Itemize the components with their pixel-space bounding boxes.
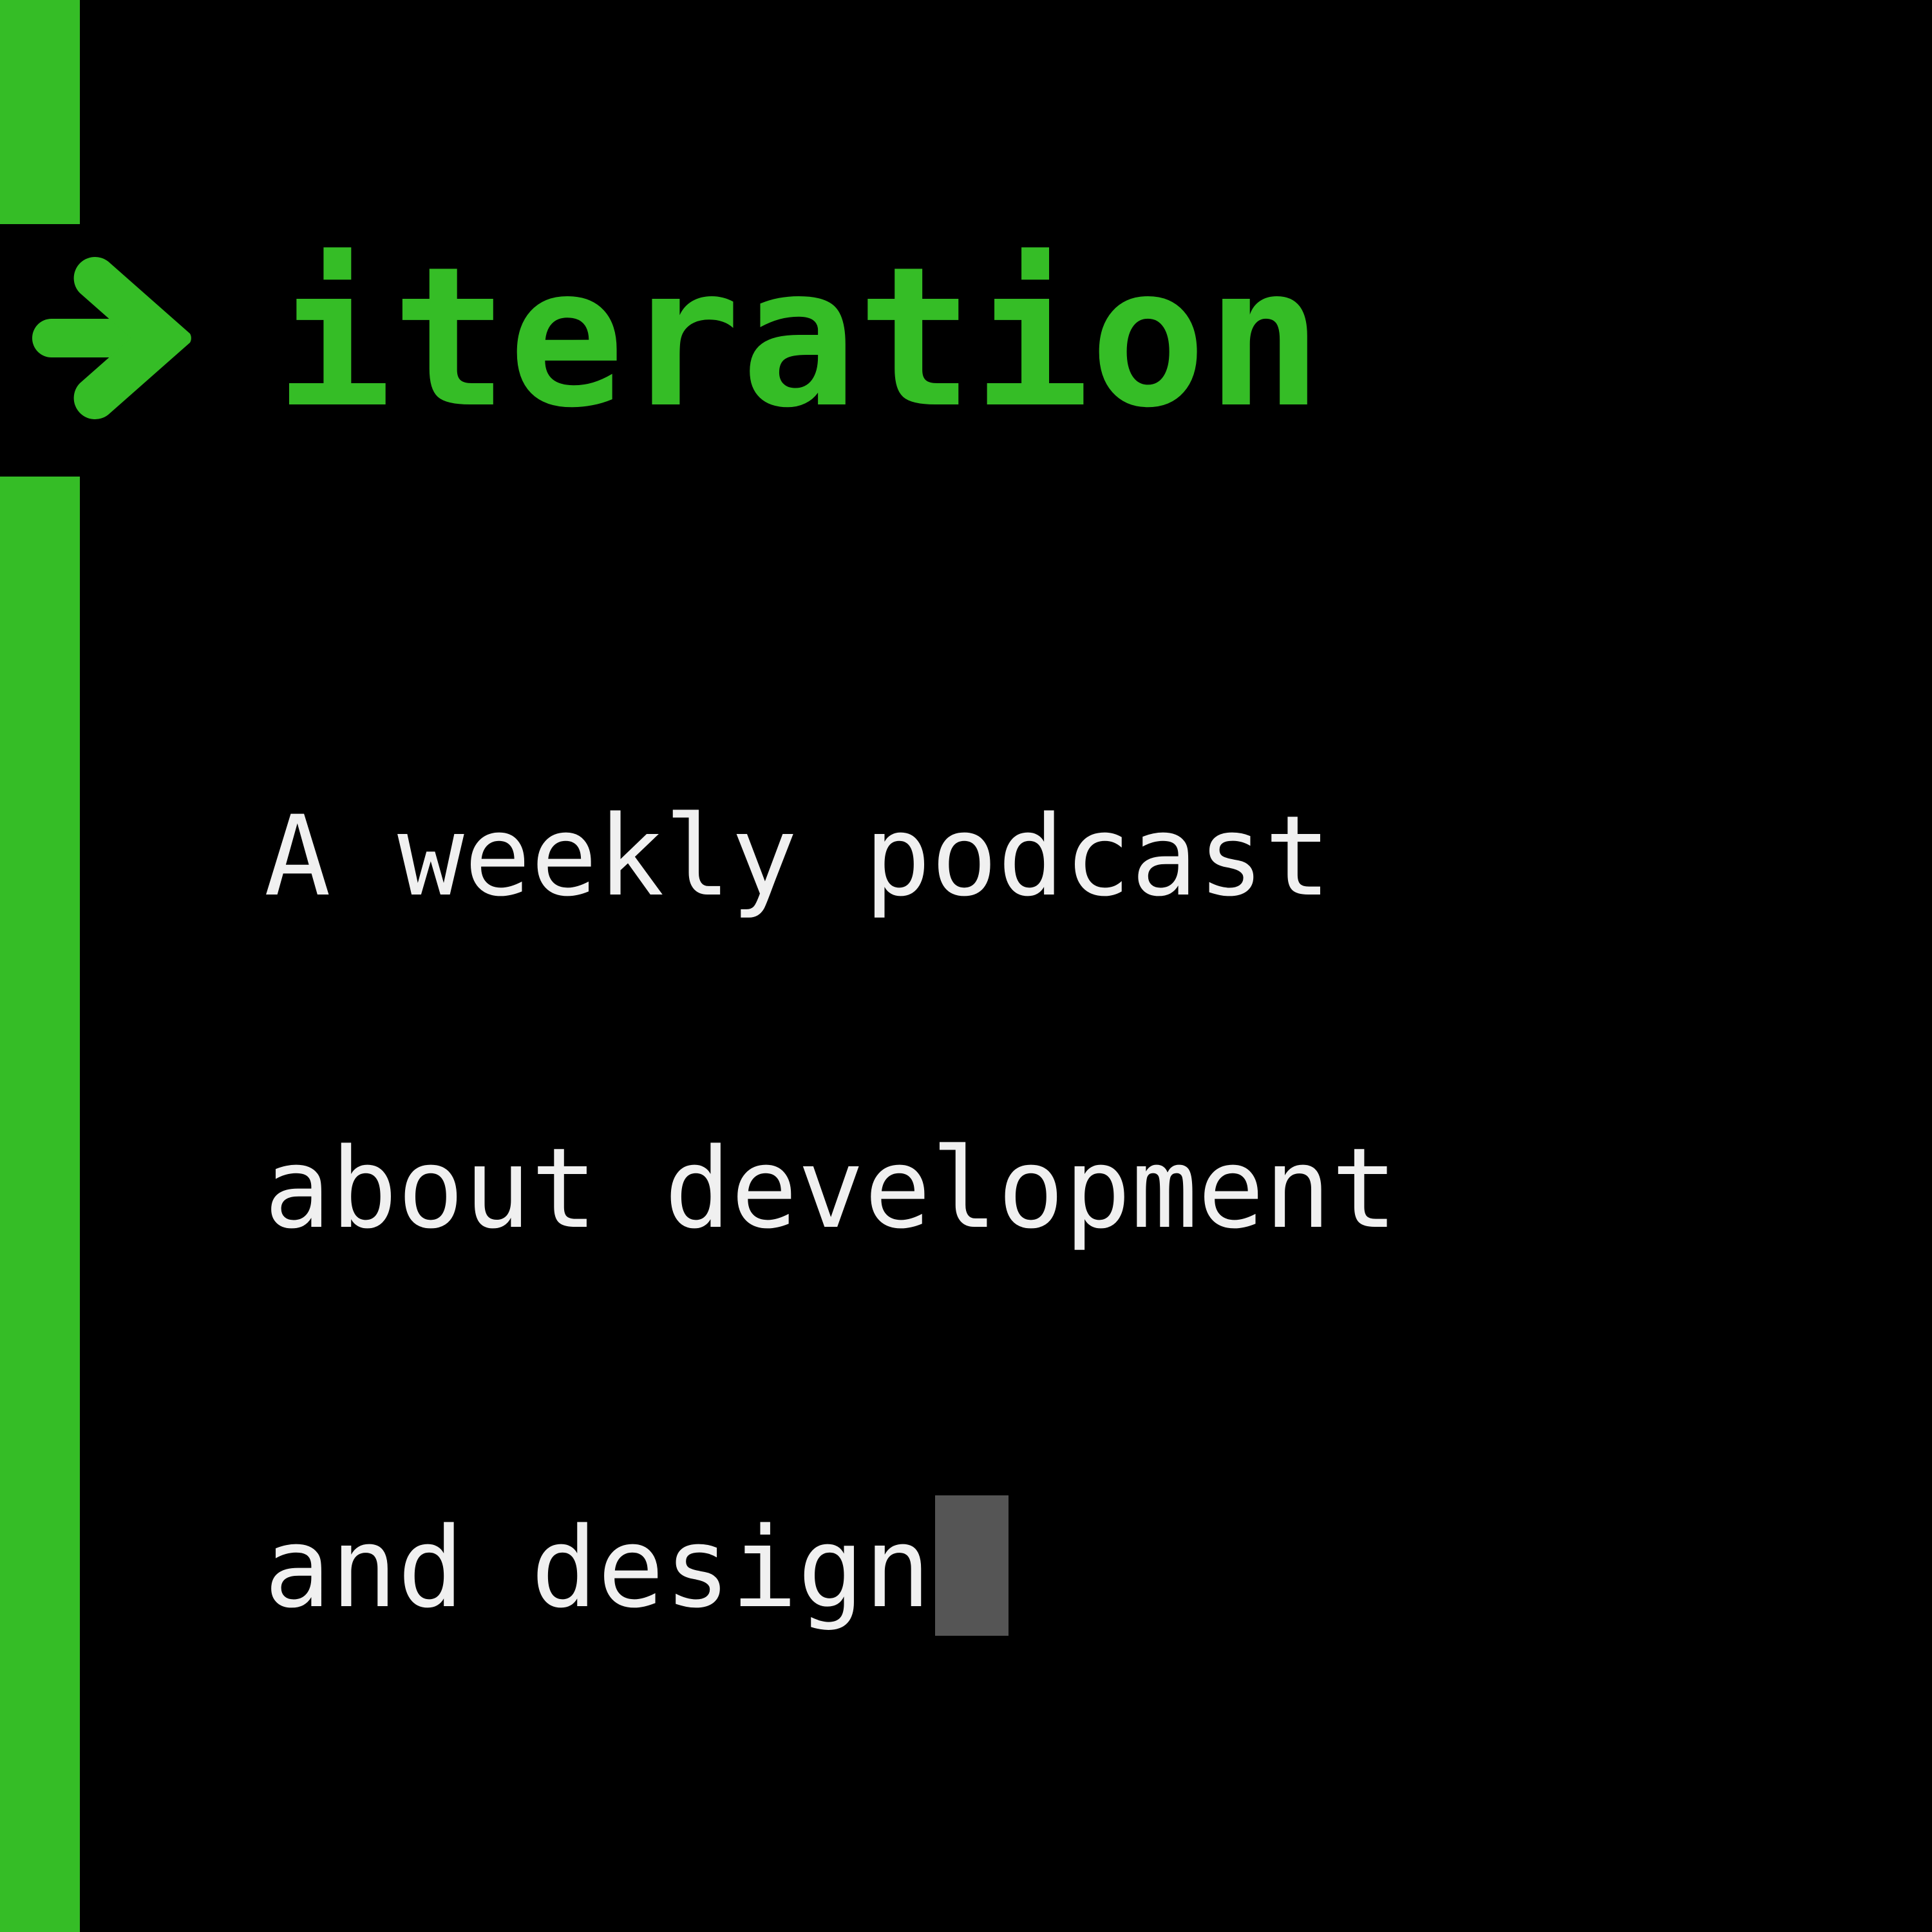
right-arrow-icon [32, 232, 203, 444]
tagline-line-3-row: and design [264, 1466, 1397, 1577]
page-title: iteration [276, 232, 1323, 444]
tagline-block: A weekly podcast about development and d… [264, 580, 1397, 1798]
header-row: iteration [0, 232, 1932, 444]
tagline-line-1: A weekly podcast [264, 801, 1397, 912]
terminal-cursor-block [935, 1495, 1009, 1636]
left-accent-rail-bottom [0, 477, 80, 1932]
tagline-line-2: about development [264, 1133, 1397, 1244]
tagline-line-3: and design [264, 1503, 931, 1633]
podcast-cover-art: iteration A weekly podcast about develop… [0, 0, 1932, 1932]
left-accent-rail-top [0, 0, 80, 224]
